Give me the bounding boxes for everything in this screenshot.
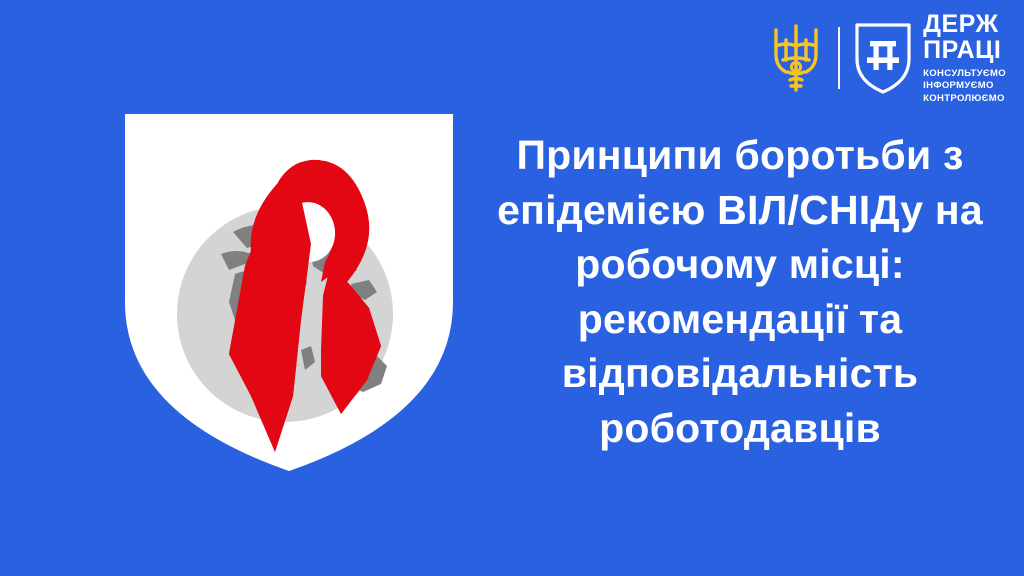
slide-title-line-3: робочому місці: xyxy=(480,237,1000,292)
slide-title-line-5: відповідальність xyxy=(480,346,1000,401)
logo-wordmark: ДЕРЖ ПРАЦІ КОНСУЛЬТУЄМО ІНФОРМУЄМО КОНТР… xyxy=(923,12,1006,104)
logo-tagline-line-1: КОНСУЛЬТУЄМО xyxy=(923,68,1006,79)
slide-canvas: ДЕРЖ ПРАЦІ КОНСУЛЬТУЄМО ІНФОРМУЄМО КОНТР… xyxy=(0,0,1024,576)
logo-wordmark-line-1: ДЕРЖ xyxy=(923,12,1006,38)
hiv-aids-awareness-ribbon-globe-shield-icon xyxy=(125,114,453,471)
slide-title-line-2: епідемією ВІЛ/СНІДу на xyxy=(480,183,1000,238)
ukrainian-trident-icon xyxy=(770,20,822,96)
logo-tagline: КОНСУЛЬТУЄМО ІНФОРМУЄМО КОНТРОЛЮЄМО xyxy=(923,68,1006,104)
logo-divider xyxy=(838,27,840,89)
slide-title-line-1: Принципи боротьби з xyxy=(480,128,1000,183)
agency-logo-lockup[interactable]: ДЕРЖ ПРАЦІ КОНСУЛЬТУЄМО ІНФОРМУЄМО КОНТР… xyxy=(770,18,1006,98)
slide-title-line-4: рекомендації та xyxy=(480,292,1000,347)
logo-tagline-line-2: ІНФОРМУЄМО xyxy=(923,80,1006,91)
derzhpratsi-shield-icon xyxy=(854,21,912,95)
slide-title-line-6: роботодавців xyxy=(480,401,1000,456)
slide-title: Принципи боротьби з епідемією ВІЛ/СНІДу … xyxy=(480,128,1000,455)
logo-wordmark-line-2: ПРАЦІ xyxy=(923,38,1006,64)
logo-tagline-line-3: КОНТРОЛЮЄМО xyxy=(923,93,1006,104)
